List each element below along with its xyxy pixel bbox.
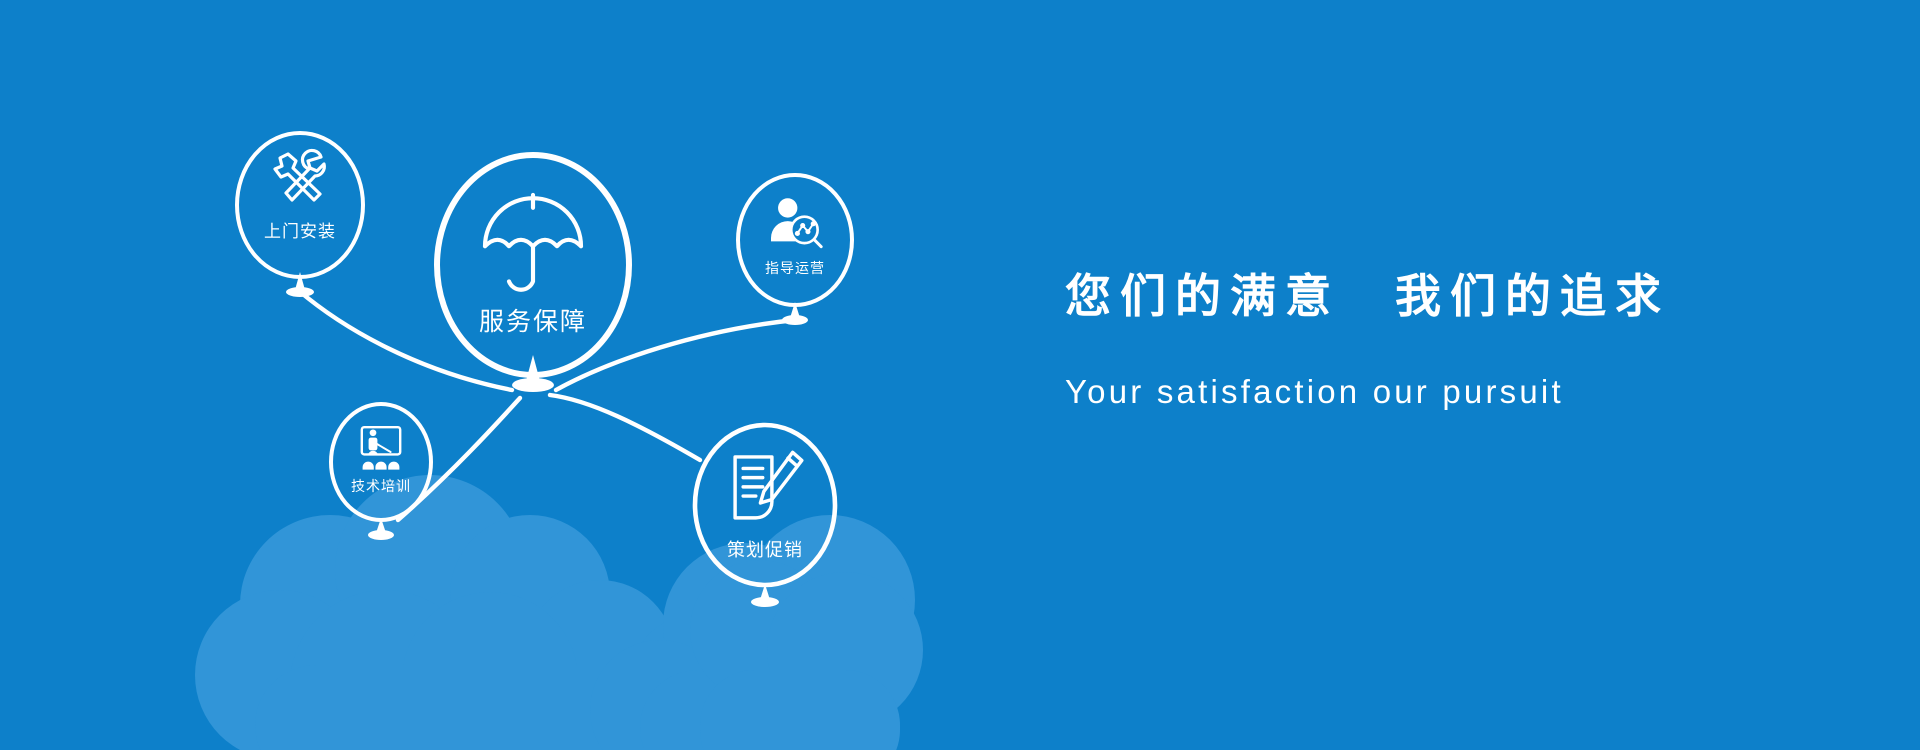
bubble-planning-promotion[interactable]: 策划促销 [695, 425, 835, 607]
pin-base [782, 315, 808, 325]
training-board-icon [362, 427, 400, 469]
slogan-block: 您们的满意 我们的追求 Your satisfaction our pursui… [1065, 268, 1825, 411]
pin-base [286, 287, 314, 297]
umbrella-icon [485, 195, 581, 290]
pin-base [751, 597, 779, 607]
pin-base [368, 530, 394, 540]
connector-to-installation [298, 290, 512, 390]
document-pencil-icon [735, 452, 802, 518]
headline-chinese: 您们的满意 我们的追求 [1065, 268, 1825, 326]
person-search-icon [771, 198, 821, 246]
connector-to-promotion [550, 395, 700, 460]
bubble-label-operation-guidance: 指导运营 [765, 260, 825, 276]
hammer-wrench-icon [275, 150, 324, 200]
bubble-label-on-site-installation: 上门安装 [264, 222, 336, 241]
bubble-label-planning-promotion: 策划促销 [727, 540, 803, 560]
bubble-technical-training[interactable]: 技术培训 [331, 404, 431, 540]
service-banner: #bush-layer circle, #bush-layer rect { f… [0, 0, 1920, 750]
bubble-on-site-installation[interactable]: 上门安装 [237, 133, 363, 297]
bubble-outline [237, 133, 363, 277]
bubble-operation-guidance[interactable]: 指导运营 [738, 175, 852, 325]
bubble-service-guarantee[interactable]: 服务保障 [437, 155, 629, 375]
subline-english: Your satisfaction our pursuit [1065, 373, 1825, 411]
bubble-outline [695, 425, 835, 585]
bubble-label-technical-training: 技术培训 [351, 478, 411, 494]
bubble-label-service-guarantee: 服务保障 [479, 308, 587, 336]
